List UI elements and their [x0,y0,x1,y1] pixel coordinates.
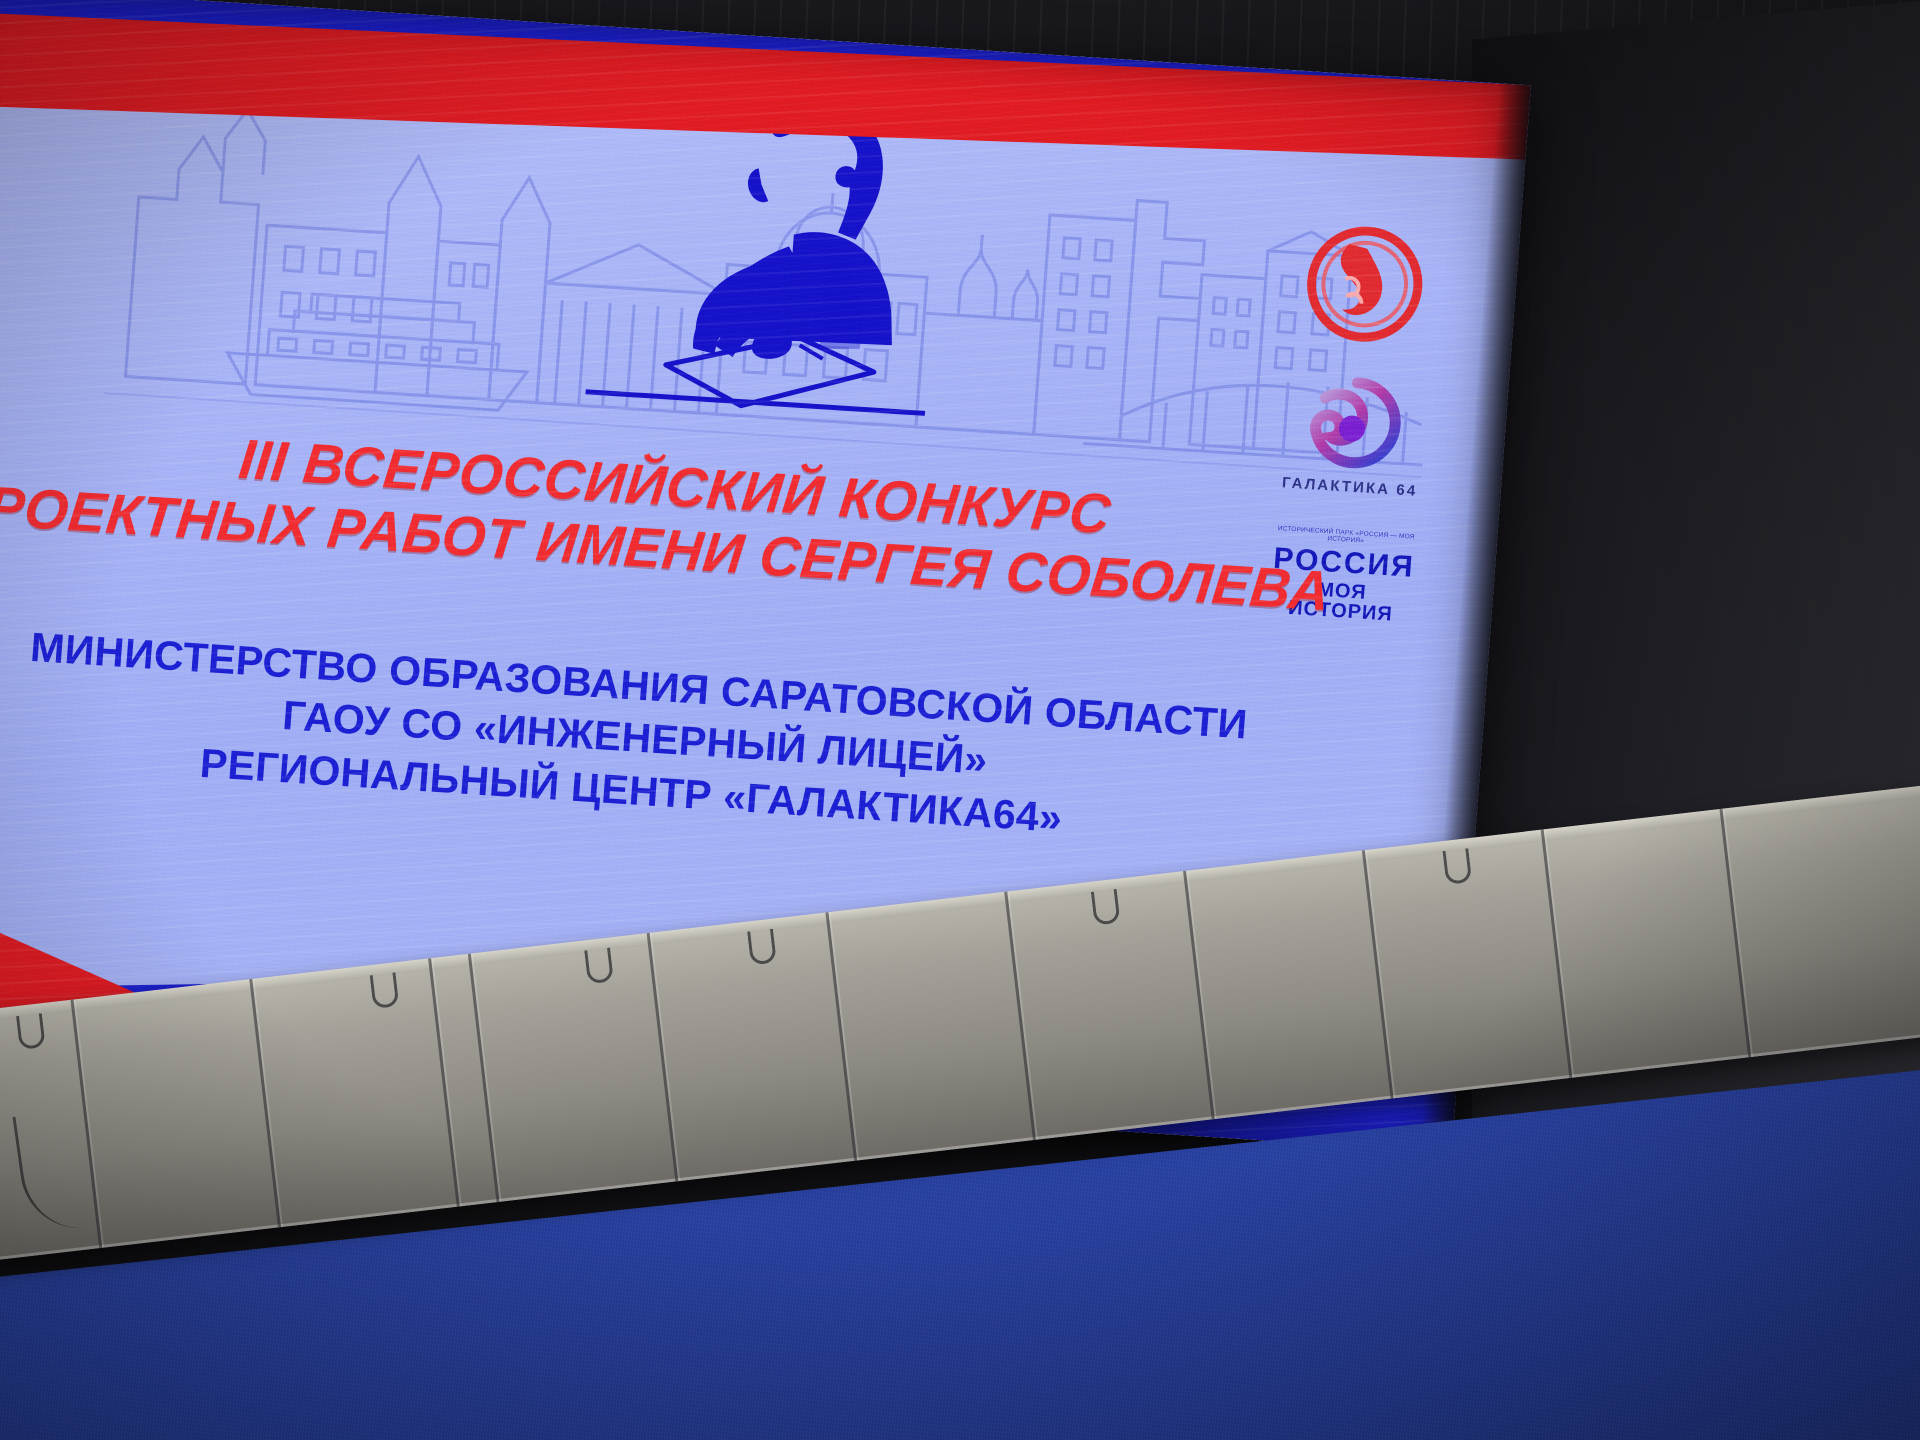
barrier-seam [1719,809,1751,1058]
barrier-hook-icon [1091,889,1121,926]
barrier-hook-icon [370,972,400,1009]
barrier-hook-icon [1442,848,1472,885]
barrier-seam [428,958,460,1207]
barrier-hook-icon [584,948,614,985]
barrier-seam [1541,829,1573,1078]
barrier-seam [468,954,500,1203]
barrier-seam [1004,891,1036,1140]
galaktika-64-logo [1299,368,1411,478]
barrier-seam [249,979,281,1228]
screenshot-root: ГАЛАКТИКА 64 ИСТОРИЧЕСКИЙ ПАРК «РОССИЯ —… [0,0,1920,1440]
barrier-hook-icon [16,1013,46,1050]
barrier-seam [825,912,857,1161]
flame-circle-logo [1301,222,1428,347]
barrier-seam [1183,871,1215,1120]
barrier-hook-icon [747,929,777,966]
barrier-seam [1362,850,1394,1099]
barrier-seam [647,933,679,1182]
